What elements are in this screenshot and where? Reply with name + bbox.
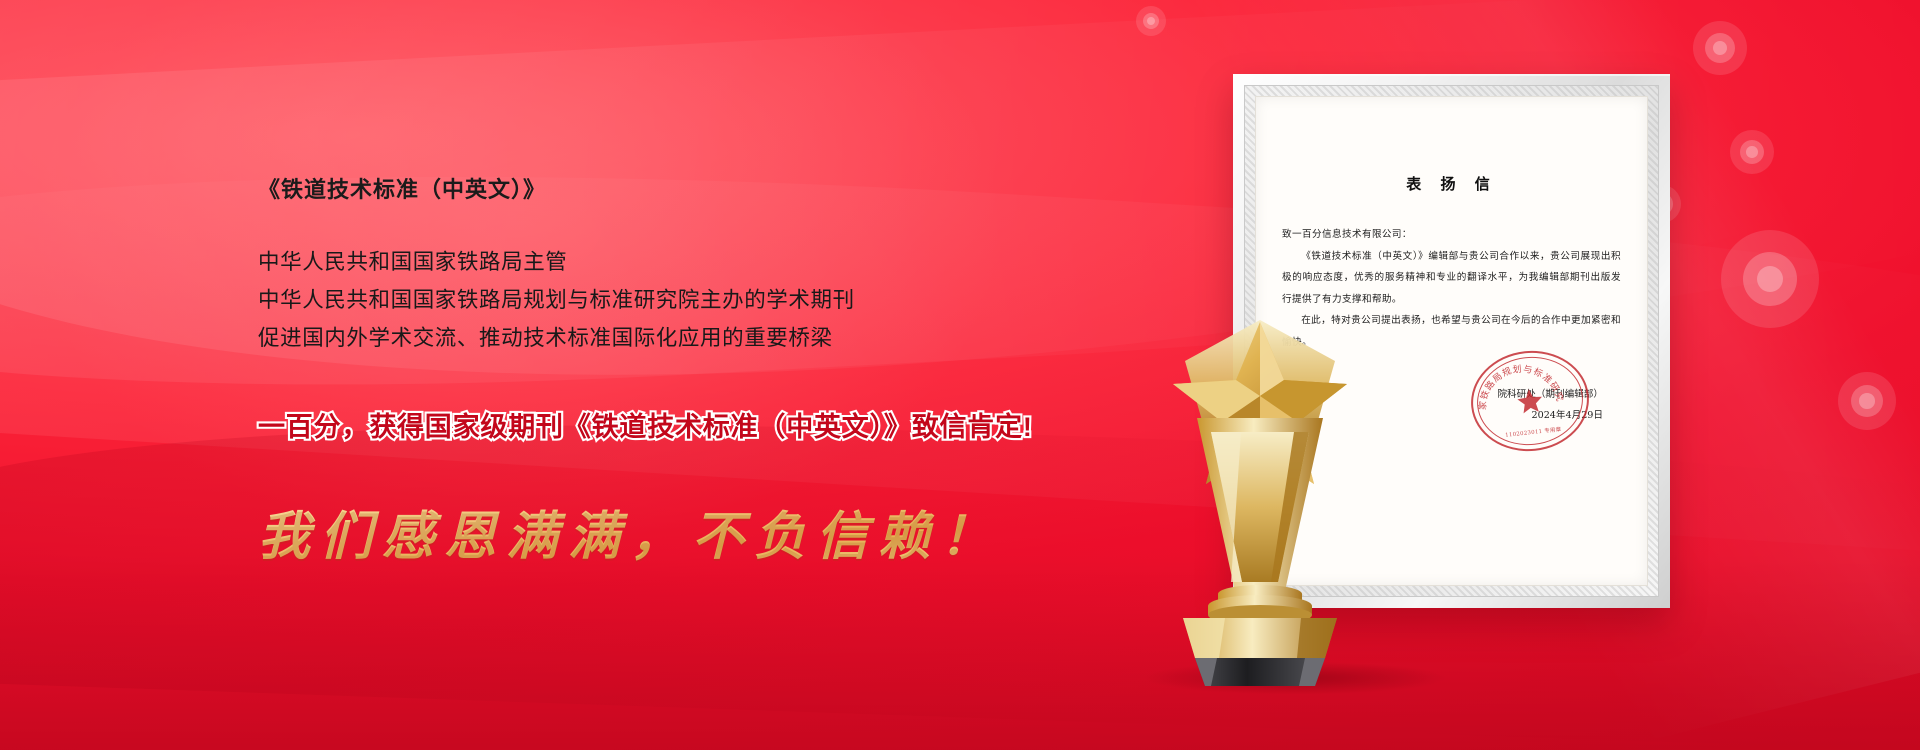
headline-text: 一百分，获得国家级期刊《铁道技术标准（中英文）》致信肯定! <box>258 405 1138 444</box>
certificate-salutation: 致一百分信息技术有限公司： <box>1282 224 1621 246</box>
journal-info-line-3: 促进国内外学术交流、推动技术标准国际化应用的重要桥梁 <box>258 319 1138 357</box>
banner-copy: 《铁道技术标准（中英文）》 中华人民共和国国家铁路局主管 中华人民共和国国家铁路… <box>258 176 1138 569</box>
certificate-paragraph-1: 《铁道技术标准（中英文）》编辑部与贵公司合作以来，贵公司展现出积极的响应态度，优… <box>1282 246 1621 311</box>
seal-star-icon <box>1516 387 1545 416</box>
bokeh-circle-1 <box>1693 21 1747 75</box>
headline-inner: 一百分，获得国家级期刊《铁道技术标准（中英文）》致信肯定! <box>258 412 1033 442</box>
calligraphy-slogan: 我们感恩满满，不负信赖！ <box>258 494 1138 569</box>
official-seal-stamp: 国家铁路局规划与标准研究院 1102023011 专用章 <box>1466 346 1594 458</box>
bokeh-circle-2 <box>1730 130 1774 174</box>
certificate-title: 表 扬 信 <box>1282 173 1621 194</box>
gold-star-trophy <box>1145 306 1375 691</box>
journal-title: 《铁道技术标准（中英文）》 <box>258 176 1138 205</box>
journal-info-lines: 中华人民共和国国家铁路局主管 中华人民共和国国家铁路局规划与标准研究院主办的学术… <box>258 243 1138 358</box>
bokeh-circle-5 <box>1838 372 1896 430</box>
banner-stage: 《铁道技术标准（中英文）》 中华人民共和国国家铁路局主管 中华人民共和国国家铁路… <box>0 0 1920 750</box>
bokeh-circle-4 <box>1721 230 1819 328</box>
journal-info-line-2: 中华人民共和国国家铁路局规划与标准研究院主办的学术期刊 <box>258 281 1138 319</box>
journal-info-line-1: 中华人民共和国国家铁路局主管 <box>258 243 1138 281</box>
